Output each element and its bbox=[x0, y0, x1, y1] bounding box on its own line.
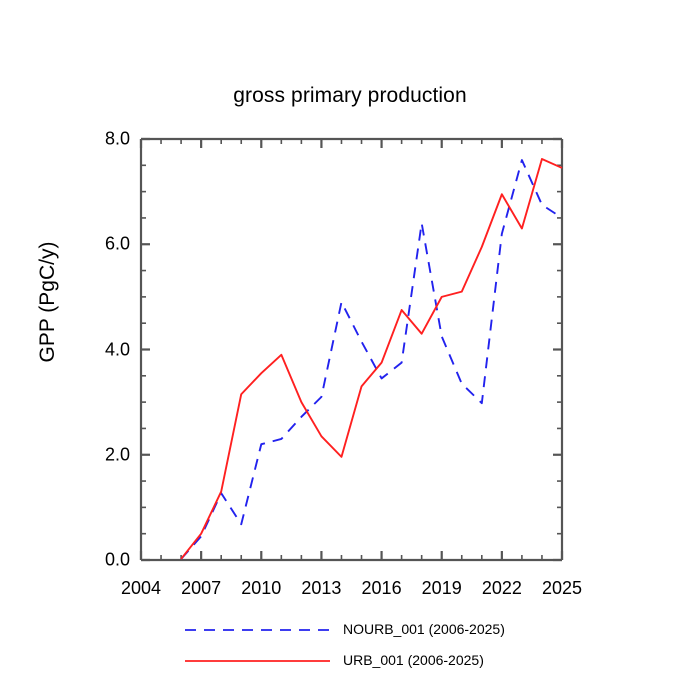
legend-line-samples bbox=[185, 630, 330, 661]
y-tick-label: 8.0 bbox=[86, 129, 130, 150]
y-tick-label: 2.0 bbox=[86, 444, 130, 465]
series-line-1 bbox=[181, 160, 562, 559]
y-axis-label: GPP (PgC/y) bbox=[36, 202, 60, 402]
y-tick-label: 6.0 bbox=[86, 234, 130, 255]
y-tick-label: 4.0 bbox=[86, 339, 130, 360]
x-tick-label: 2025 bbox=[522, 578, 602, 599]
data-series-group bbox=[181, 159, 562, 559]
legend-item-label: NOURB_001 (2006-2025) bbox=[343, 621, 505, 637]
chart-figure: gross primary production GPP (PgC/y) 0.0… bbox=[0, 0, 700, 700]
y-tick-label: 0.0 bbox=[86, 550, 130, 571]
legend-item-label: URB_001 (2006-2025) bbox=[343, 652, 484, 668]
